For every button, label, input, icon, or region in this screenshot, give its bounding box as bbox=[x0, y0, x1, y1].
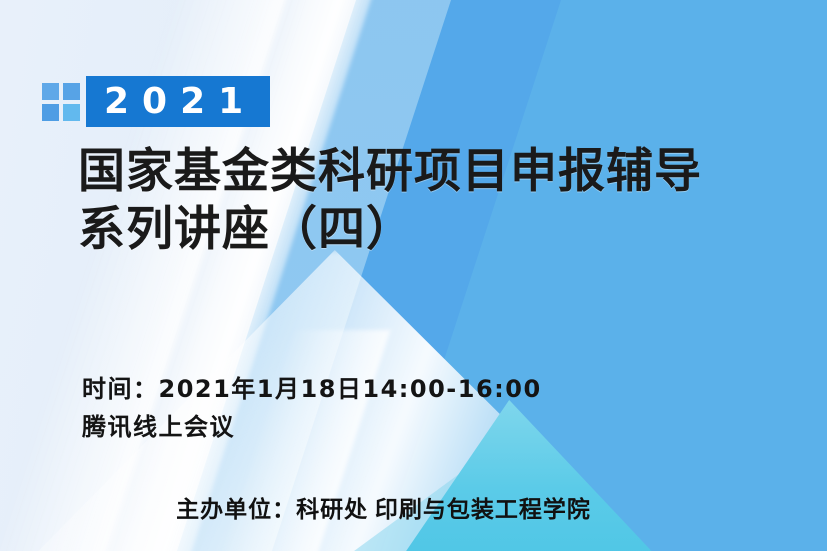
title-line-2: 系列讲座（四） bbox=[78, 200, 702, 258]
grid-square-bottom-right-icon bbox=[63, 104, 80, 121]
page-title: 国家基金类科研项目申报辅导 系列讲座（四） bbox=[78, 142, 702, 258]
grid-square-top-right-icon bbox=[63, 83, 80, 100]
grid-squares-icon bbox=[42, 83, 80, 121]
poster-canvas: 2021 国家基金类科研项目申报辅导 系列讲座（四） 时间：2021年1月18日… bbox=[0, 0, 827, 551]
event-time: 时间：2021年1月18日14:00-16:00 bbox=[82, 370, 542, 408]
event-venue: 腾讯线上会议 bbox=[82, 408, 542, 446]
grid-square-bottom-left-icon bbox=[42, 104, 59, 121]
title-line-1: 国家基金类科研项目申报辅导 bbox=[78, 142, 702, 200]
year-badge: 2021 bbox=[86, 76, 270, 127]
year-header-row: 2021 bbox=[42, 76, 270, 127]
organizer-line: 主办单位：科研处 印刷与包装工程学院 bbox=[0, 490, 827, 524]
grid-square-top-left-icon bbox=[42, 83, 59, 100]
event-meta: 时间：2021年1月18日14:00-16:00 腾讯线上会议 bbox=[82, 370, 542, 446]
poster-content: 2021 国家基金类科研项目申报辅导 系列讲座（四） 时间：2021年1月18日… bbox=[0, 0, 827, 551]
